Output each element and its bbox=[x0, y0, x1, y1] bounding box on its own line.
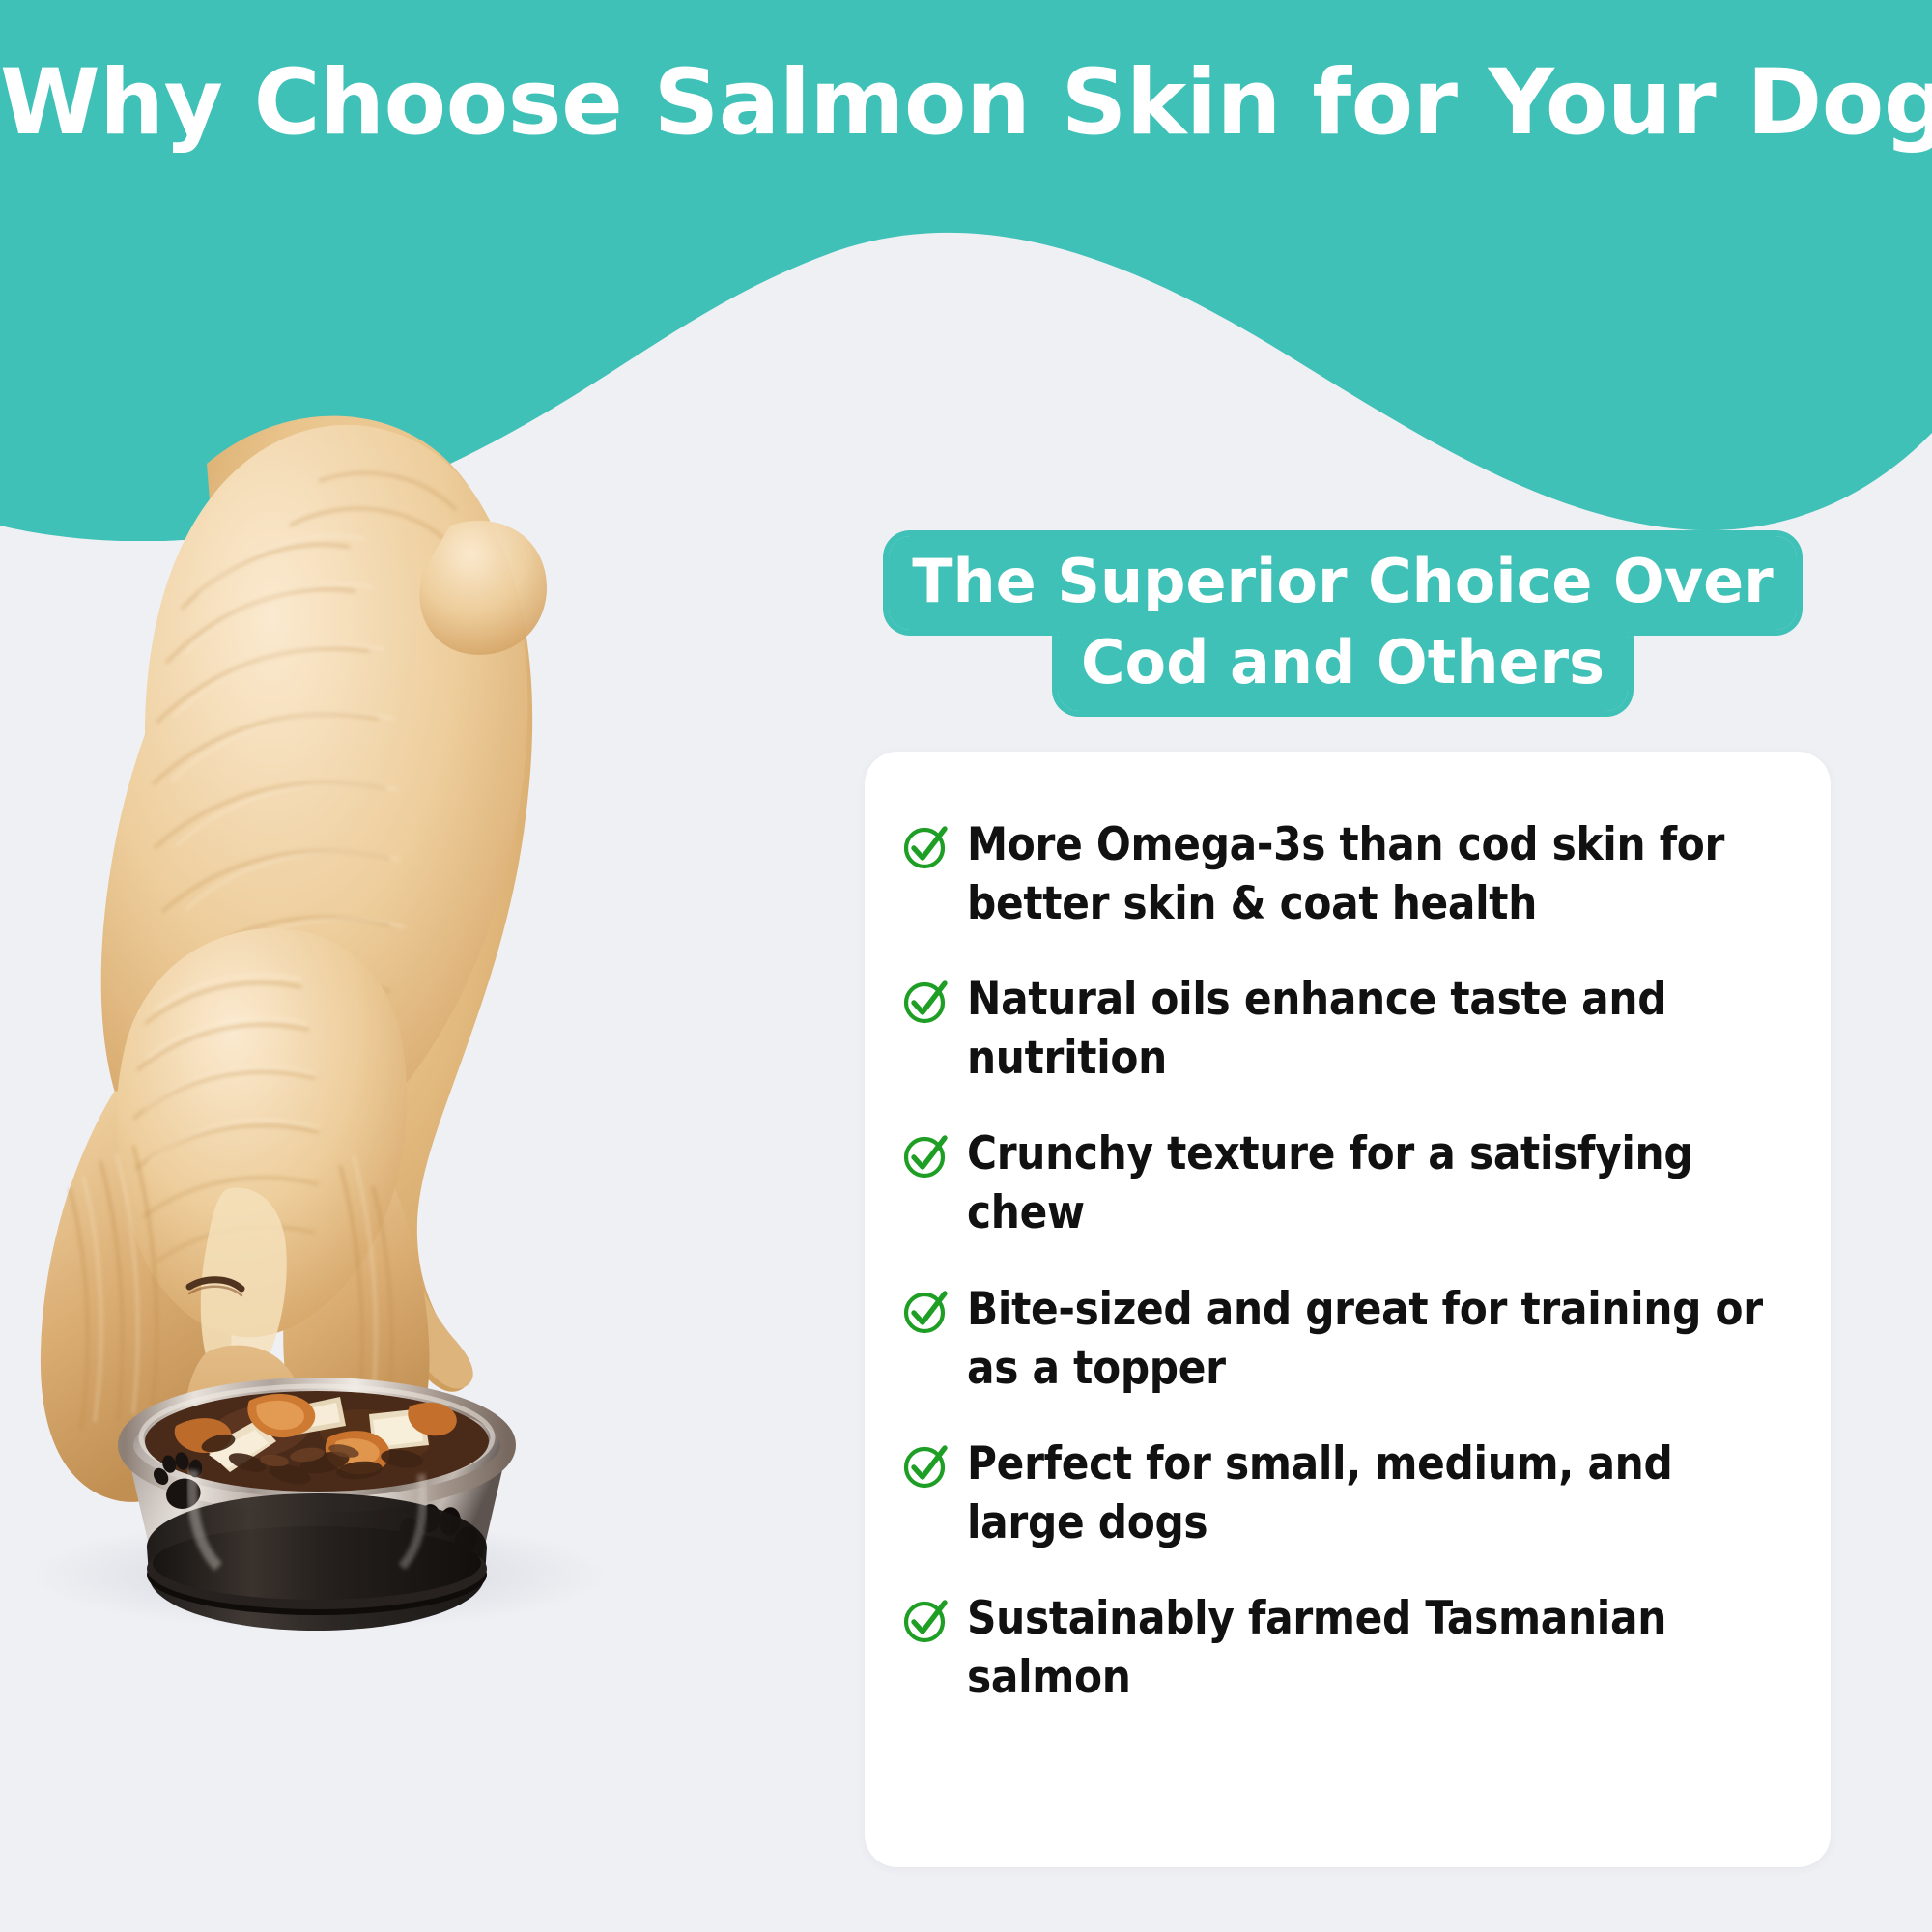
check-circle-icon bbox=[901, 976, 952, 1026]
list-item-text: More Omega-3s than cod skin for better s… bbox=[967, 815, 1792, 933]
page-title: Why Choose Salmon Skin for Your Dog? bbox=[0, 56, 1932, 152]
check-circle-icon bbox=[901, 1595, 952, 1645]
list-item-text: Sustainably farmed Tasmanian salmon bbox=[967, 1589, 1792, 1707]
list-item: Crunchy texture for a satisfying chew bbox=[901, 1124, 1792, 1242]
list-item: Sustainably farmed Tasmanian salmon bbox=[901, 1589, 1792, 1707]
list-item: Perfect for small, medium, and large dog… bbox=[901, 1435, 1792, 1552]
check-circle-icon bbox=[901, 821, 952, 871]
benefits-card: More Omega-3s than cod skin for better s… bbox=[865, 752, 1831, 1867]
panel-heading-line1: The Superior Choice Over bbox=[889, 536, 1797, 630]
list-item: More Omega-3s than cod skin for better s… bbox=[901, 815, 1792, 933]
list-item-text: Natural oils enhance taste and nutrition bbox=[967, 970, 1792, 1088]
benefits-list: More Omega-3s than cod skin for better s… bbox=[865, 752, 1831, 1746]
list-item: Natural oils enhance taste and nutrition bbox=[901, 970, 1792, 1088]
check-circle-icon bbox=[901, 1286, 952, 1336]
dog-eating-photo bbox=[0, 319, 676, 1787]
list-item: Bite-sized and great for training or as … bbox=[901, 1280, 1792, 1398]
benefits-panel: The Superior Choice Over Cod and Others … bbox=[860, 541, 1835, 704]
panel-heading-line2: Cod and Others bbox=[1058, 617, 1628, 711]
list-item-text: Perfect for small, medium, and large dog… bbox=[967, 1435, 1792, 1552]
check-circle-icon bbox=[901, 1130, 952, 1180]
check-circle-icon bbox=[901, 1440, 952, 1491]
list-item-text: Crunchy texture for a satisfying chew bbox=[967, 1124, 1792, 1242]
panel-heading: The Superior Choice Over Cod and Others bbox=[860, 541, 1826, 704]
dog-food-bowl bbox=[126, 1385, 508, 1631]
list-item-text: Bite-sized and great for training or as … bbox=[967, 1280, 1792, 1398]
infographic-canvas: Why Choose Salmon Skin for Your Dog? bbox=[0, 0, 1932, 1932]
